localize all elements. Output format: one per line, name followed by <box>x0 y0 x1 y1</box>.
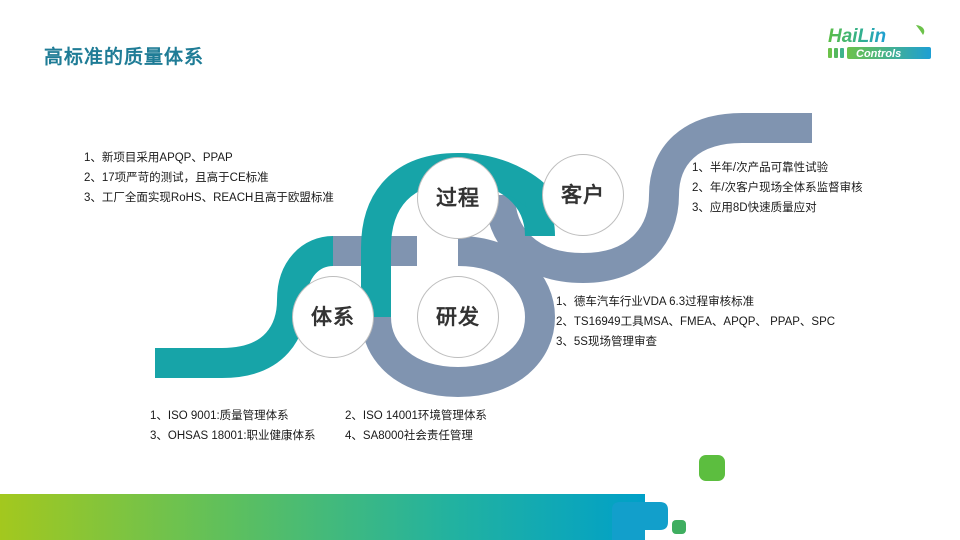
node-process[interactable]: 过程 <box>417 157 499 239</box>
hailin-controls-logo: HaiLin Controls <box>820 22 944 64</box>
svg-text:Controls: Controls <box>856 48 901 60</box>
node-customer-label: 客户 <box>561 185 605 206</box>
customer-details-block: 1、半年/次产品可靠性试验 2、年/次客户现场全体系监督审核 3、应用8D快速质… <box>692 158 863 218</box>
system-detail-cell: 1、ISO 9001:质量管理体系 <box>150 406 345 426</box>
footer-gradient-bar <box>0 450 960 540</box>
customer-detail-line: 3、应用8D快速质量应对 <box>692 198 863 218</box>
node-customer[interactable]: 客户 <box>542 154 624 236</box>
node-system[interactable]: 体系 <box>292 276 374 358</box>
node-process-label: 过程 <box>436 188 480 209</box>
rd-detail-line: 1、德车汽车行业VDA 6.3过程审核标准 <box>556 292 835 312</box>
customer-detail-line: 1、半年/次产品可靠性试验 <box>692 158 863 178</box>
process-detail-line: 2、17项严苛的测试，且高于CE标准 <box>84 168 334 188</box>
system-detail-cell: 2、ISO 14001环境管理体系 <box>345 406 487 426</box>
system-detail-cell: 3、OHSAS 18001:职业健康体系 <box>150 426 345 446</box>
rd-detail-line: 3、5S现场管理审查 <box>556 332 835 352</box>
svg-text:HaiLin: HaiLin <box>828 26 886 47</box>
system-detail-row: 3、OHSAS 18001:职业健康体系4、SA8000社会责任管理 <box>150 426 487 446</box>
rd-detail-line: 2、TS16949工具MSA、FMEA、APQP、 PPAP、SPC <box>556 312 835 332</box>
system-detail-row: 1、ISO 9001:质量管理体系2、ISO 14001环境管理体系 <box>150 406 487 426</box>
system-detail-cell: 4、SA8000社会责任管理 <box>345 426 473 446</box>
node-rd-label: 研发 <box>436 307 480 328</box>
process-detail-line: 1、新项目采用APQP、PPAP <box>84 148 334 168</box>
customer-detail-line: 2、年/次客户现场全体系监督审核 <box>692 178 863 198</box>
system-details-block: 1、ISO 9001:质量管理体系2、ISO 14001环境管理体系 3、OHS… <box>150 406 487 446</box>
node-system-label: 体系 <box>311 307 355 328</box>
node-rd[interactable]: 研发 <box>417 276 499 358</box>
process-detail-line: 3、工厂全面实现RoHS、REACH且高于欧盟标准 <box>84 188 334 208</box>
rd-details-block: 1、德车汽车行业VDA 6.3过程审核标准 2、TS16949工具MSA、FME… <box>556 292 835 352</box>
slide-root: 高标准的质量体系 HaiLin Controls <box>0 0 960 540</box>
page-title: 高标准的质量体系 <box>44 42 204 69</box>
process-details-block: 1、新项目采用APQP、PPAP 2、17项严苛的测试，且高于CE标准 3、工厂… <box>84 148 334 208</box>
